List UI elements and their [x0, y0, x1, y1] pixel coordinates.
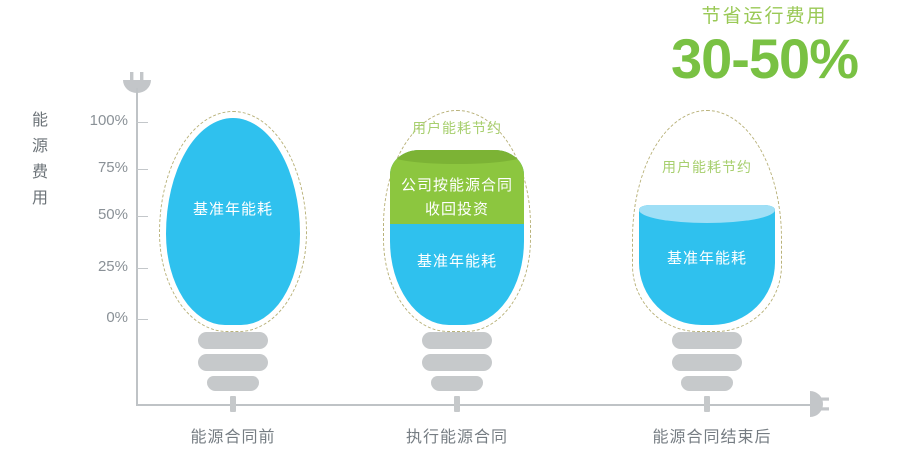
screw-tip [207, 376, 259, 391]
y-tick-mark [136, 122, 148, 123]
bulb-segment-label: 基准年能耗 [639, 247, 775, 271]
screw-tip [431, 376, 483, 391]
recovery-line-2: 收回投资 [390, 198, 524, 222]
y-tick-label-75: 75% [46, 159, 128, 176]
bulb-cap-label: 用户能耗节约 [390, 118, 524, 138]
screw-ring [672, 332, 742, 349]
bulb-screw-base [422, 332, 492, 412]
bulb-cap-label: 用户能耗节约 [639, 157, 775, 177]
bulb-during-contract: 公司按能源合同 收回投资 基准年能耗 用户能耗节约 [390, 150, 524, 325]
bulb-segment-label-recovery: 公司按能源合同 收回投资 [390, 174, 524, 222]
bulb-after-contract: 基准年能耗 用户能耗节约 [639, 205, 775, 325]
headline-block: 节省运行费用 30-50% [671, 4, 858, 88]
y-tick-label-50: 50% [46, 206, 128, 223]
bulb-stem [454, 396, 460, 412]
screw-ring [422, 332, 492, 349]
y-tick-mark [136, 319, 148, 320]
recovery-line-1: 公司按能源合同 [390, 174, 524, 198]
screw-ring [422, 354, 492, 371]
screw-ring [198, 332, 268, 349]
y-tick-label-0: 0% [46, 309, 128, 326]
bulb-before-contract: 基准年能耗 [166, 118, 300, 325]
bulb-stem [230, 396, 236, 412]
x-axis-label-before: 能源合同前 [163, 423, 303, 447]
y-axis-label-char: 源 [28, 134, 52, 160]
bulb-segment-label: 基准年能耗 [166, 198, 300, 222]
bulb-segment-label-baseline: 基准年能耗 [390, 250, 524, 274]
bulb-stem [704, 396, 710, 412]
screw-ring [672, 354, 742, 371]
y-tick-mark [136, 216, 148, 217]
y-tick-mark [136, 268, 148, 269]
plug-icon [806, 389, 836, 419]
x-axis-label-during: 执行能源合同 [387, 423, 527, 447]
infographic-canvas: 节省运行费用 30-50% 能 源 费 用 100% 75% 50% 25% [0, 0, 900, 473]
bulb-screw-base [198, 332, 268, 412]
bulb-screw-base [672, 332, 742, 412]
screw-ring [198, 354, 268, 371]
x-axis-label-after: 能源合同结束后 [637, 423, 787, 447]
y-tick-mark [136, 169, 148, 170]
y-tick-label-100: 100% [46, 112, 128, 129]
y-axis-line [136, 88, 138, 406]
screw-tip [681, 376, 733, 391]
headline-value: 30-50% [671, 30, 858, 88]
y-tick-label-25: 25% [46, 258, 128, 275]
